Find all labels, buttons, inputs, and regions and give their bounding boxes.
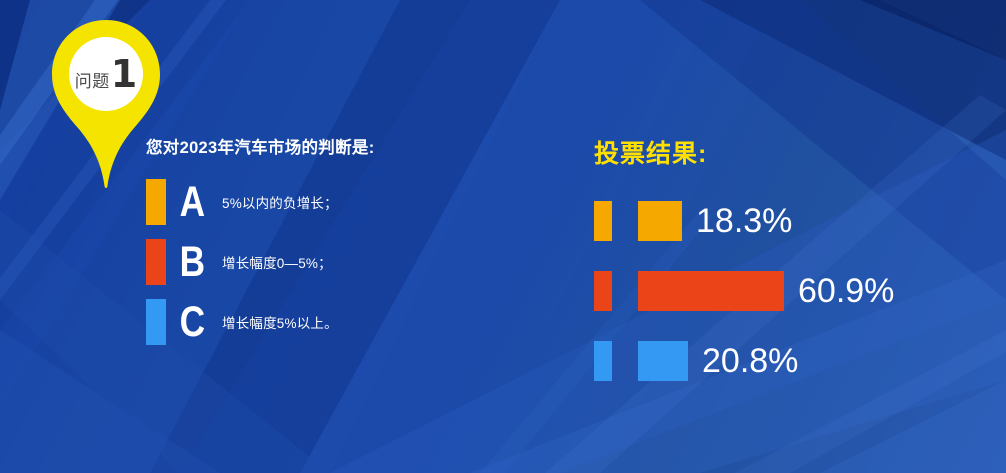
- option-swatch-c: [146, 299, 166, 345]
- result-swatch-c: [594, 341, 612, 381]
- result-bar-a: [638, 201, 682, 241]
- option-row-a[interactable]: A 5%以内的负增长；: [146, 172, 566, 232]
- option-row-b[interactable]: B 增长幅度0—5%；: [146, 232, 566, 292]
- slide-canvas: 问题 1 您对2023年汽车市场的判断是: A 5%以内的负增长； B 增长幅度…: [0, 0, 1006, 473]
- options-list: A 5%以内的负增长； B 增长幅度0—5%； C 增长幅度5%以上。: [146, 172, 566, 352]
- result-row-b: 60.9%: [594, 256, 994, 326]
- option-swatch-b: [146, 239, 166, 285]
- result-bar-c: [638, 341, 688, 381]
- option-letter-a: A: [171, 181, 214, 224]
- result-percent-a: 18.3%: [696, 202, 792, 241]
- option-text-c: 增长幅度5%以上。: [222, 312, 338, 332]
- pin-number-label: 1: [111, 57, 137, 91]
- pin-label: 问题 1: [50, 18, 162, 130]
- option-text-b: 增长幅度0—5%；: [222, 252, 332, 272]
- results-block: 投票结果: 18.3% 60.9% 20.8%: [594, 134, 994, 396]
- option-letter-c: C: [171, 301, 214, 344]
- option-text-a: 5%以内的负增长；: [222, 192, 338, 212]
- result-percent-b: 60.9%: [798, 272, 894, 311]
- result-percent-c: 20.8%: [702, 342, 798, 381]
- pin-word-label: 问题: [75, 67, 110, 92]
- result-swatch-a: [594, 201, 612, 241]
- result-row-a: 18.3%: [594, 186, 994, 256]
- result-bar-b: [638, 271, 784, 311]
- option-letter-b: B: [171, 241, 214, 284]
- result-swatch-b: [594, 271, 612, 311]
- question-title: 您对2023年汽车市场的判断是:: [146, 134, 566, 158]
- option-row-c[interactable]: C 增长幅度5%以上。: [146, 292, 566, 352]
- question-block: 您对2023年汽车市场的判断是: A 5%以内的负增长； B 增长幅度0—5%；…: [146, 134, 566, 352]
- results-title: 投票结果:: [594, 134, 994, 170]
- result-row-c: 20.8%: [594, 326, 994, 396]
- results-bar-chart: 18.3% 60.9% 20.8%: [594, 186, 994, 396]
- option-swatch-a: [146, 179, 166, 225]
